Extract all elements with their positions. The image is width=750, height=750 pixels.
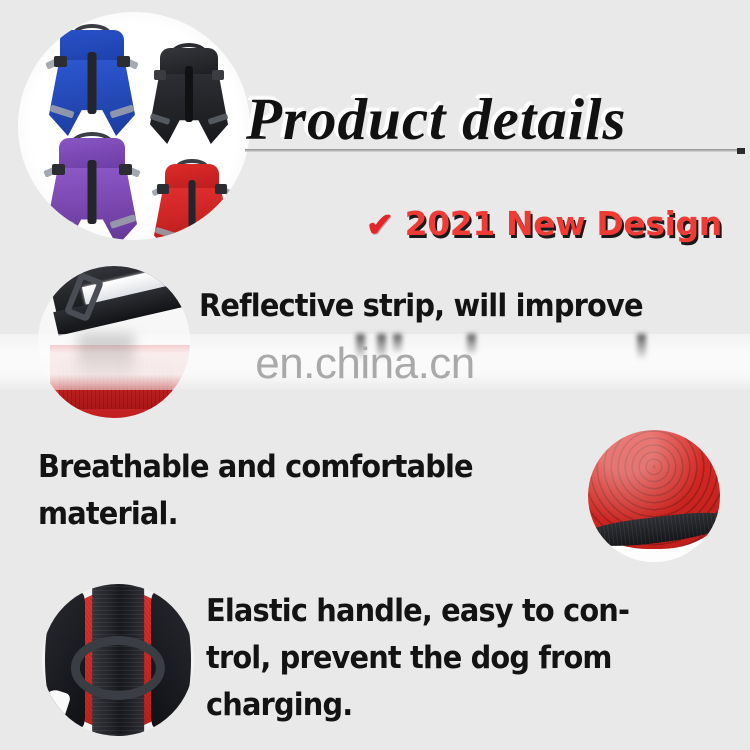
product-details-page: Product details ✔ 2021 New Design Reflec…	[0, 0, 750, 750]
handle-loop-icon	[71, 132, 113, 154]
harness-color-variants-photo	[18, 12, 250, 240]
new-design-badge: ✔ 2021 New Design	[366, 204, 722, 244]
feature-reflective-strip-text: Reflective strip, will improve	[199, 286, 720, 326]
page-title: Product details	[246, 84, 746, 154]
title-underline-rule	[245, 149, 741, 152]
handle-loop-icon	[72, 24, 112, 46]
red-harness	[150, 164, 234, 240]
purple-harness	[42, 138, 142, 240]
blue-harness	[44, 30, 140, 138]
handle-ring-icon	[71, 636, 165, 700]
black-harness	[146, 48, 232, 146]
hero-section: Product details ✔ 2021 New Design	[0, 0, 750, 258]
feature-breathable-material: Breathable and comfortable material.	[0, 418, 750, 570]
feature-elastic-handle-line-1: Elastic handle, easy to con-	[206, 588, 716, 635]
feature-elastic-handle-text: Elastic handle, easy to con- trol, preve…	[206, 588, 716, 729]
handle-loop-icon	[175, 159, 209, 177]
feature-breathable-material-text: Breathable and comfortable material.	[38, 444, 559, 538]
breathable-mesh-closeup-photo	[588, 430, 720, 562]
feature-elastic-handle-line-3: charging.	[206, 682, 716, 729]
feature-elastic-handle-line-2: trol, prevent the dog from	[206, 635, 716, 682]
reflective-strip-closeup-photo	[38, 266, 190, 418]
check-mark-icon: ✔	[366, 208, 394, 241]
handle-loop-icon	[171, 43, 207, 63]
feature-reflective-strip: Reflective strip, will improve	[0, 258, 750, 418]
elastic-handle-closeup-photo	[42, 584, 194, 736]
feature-elastic-handle: Elastic handle, easy to con- trol, preve…	[0, 570, 750, 750]
new-design-badge-label: 2021 New Design	[405, 204, 722, 244]
